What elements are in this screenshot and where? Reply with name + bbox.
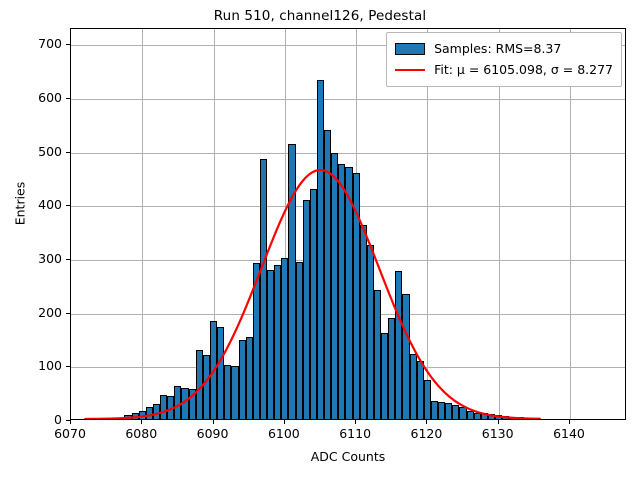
y-tick (66, 366, 70, 367)
histogram-bar (189, 389, 196, 419)
histogram-bar (517, 417, 524, 419)
x-tick-label: 6090 (183, 426, 243, 441)
x-tick-label: 6070 (40, 426, 100, 441)
histogram-bar (153, 404, 160, 419)
histogram-bar (231, 366, 238, 419)
histogram-bar (502, 416, 509, 419)
histogram-bar (431, 401, 438, 419)
x-axis-label: ADC Counts (70, 449, 626, 464)
histogram-bar (296, 262, 303, 419)
histogram-bar (303, 200, 310, 419)
histogram-bar (160, 395, 167, 419)
histogram-bar (410, 354, 417, 420)
legend-patch-swatch-icon (395, 43, 425, 55)
y-tick (66, 44, 70, 45)
x-tick-label: 6120 (396, 426, 456, 441)
gridline-vertical (570, 29, 571, 419)
gridline-horizontal (71, 99, 625, 100)
y-tick-label: 600 (10, 90, 62, 105)
legend-label-fit: Fit: μ = 6105.098, σ = 8.277 (434, 62, 613, 77)
gridline-horizontal (71, 153, 625, 154)
histogram-bar (267, 270, 274, 419)
legend: Samples: RMS=8.37 Fit: μ = 6105.098, σ =… (386, 32, 622, 87)
histogram-bar (124, 415, 131, 419)
histogram-bar (239, 340, 246, 419)
y-tick-label: 700 (10, 36, 62, 51)
y-tick-label: 100 (10, 358, 62, 373)
histogram-bar (402, 294, 409, 419)
y-axis-label: Entries (13, 124, 28, 284)
x-tick (498, 420, 499, 424)
x-tick (355, 420, 356, 424)
histogram-bar (196, 350, 203, 419)
page-title: Run 510, channel126, Pedestal (0, 8, 640, 24)
x-tick-label: 6110 (325, 426, 385, 441)
histogram-bar (481, 413, 488, 419)
histogram-bar (424, 380, 431, 419)
histogram-bar (388, 318, 395, 419)
histogram-bar (459, 407, 466, 419)
y-tick (66, 152, 70, 153)
histogram-bar (174, 386, 181, 419)
x-tick-label: 6100 (254, 426, 314, 441)
y-tick (66, 313, 70, 314)
x-tick-label: 6140 (539, 426, 599, 441)
histogram-bar (181, 388, 188, 419)
gridline-vertical (499, 29, 500, 419)
histogram-bar (203, 355, 210, 419)
histogram-bar (167, 396, 174, 419)
plot-area: Samples: RMS=8.37 Fit: μ = 6105.098, σ =… (70, 28, 626, 420)
legend-line-swatch-icon (395, 69, 425, 71)
histogram-bar (381, 333, 388, 419)
y-tick (66, 420, 70, 421)
y-tick (66, 259, 70, 260)
gridline-vertical (427, 29, 428, 419)
y-tick-label: 200 (10, 305, 62, 320)
histogram-bar (310, 189, 317, 419)
histogram-bar (509, 417, 516, 419)
histogram-bar (474, 413, 481, 419)
legend-item-samples: Samples: RMS=8.37 (395, 38, 613, 59)
histogram-bar (317, 80, 324, 419)
histogram-bar (146, 407, 153, 419)
plot-inner (71, 29, 625, 419)
x-tick (426, 420, 427, 424)
histogram-bar (210, 321, 217, 419)
x-tick-label: 6130 (468, 426, 528, 441)
histogram-bar (360, 225, 367, 419)
histogram-bar (374, 290, 381, 419)
histogram-bar (467, 411, 474, 419)
histogram-bar (452, 405, 459, 419)
y-tick (66, 98, 70, 99)
histogram-bar (495, 415, 502, 419)
histogram-bar (445, 403, 452, 419)
histogram-bar (345, 167, 352, 419)
histogram-bar (524, 418, 531, 419)
legend-item-fit: Fit: μ = 6105.098, σ = 8.277 (395, 59, 613, 80)
histogram-bar (367, 245, 374, 419)
x-tick (569, 420, 570, 424)
histogram-bar (224, 365, 231, 419)
x-tick (213, 420, 214, 424)
x-tick (70, 420, 71, 424)
histogram-bar (395, 271, 402, 419)
histogram-bar (488, 414, 495, 419)
y-tick (66, 205, 70, 206)
histogram-bar (338, 164, 345, 419)
histogram-bar (331, 153, 338, 419)
histogram-bar (260, 159, 267, 419)
y-tick-label: 0 (10, 412, 62, 427)
histogram-bar (281, 258, 288, 419)
histogram-bar (438, 402, 445, 419)
histogram-bar (353, 173, 360, 419)
histogram-bar (246, 337, 253, 419)
x-tick (284, 420, 285, 424)
histogram-bar (324, 130, 331, 419)
legend-label-samples: Samples: RMS=8.37 (434, 41, 561, 56)
histogram-bar (531, 418, 538, 419)
histogram-bar (217, 327, 224, 419)
histogram-bar (253, 263, 260, 419)
histogram-bar (417, 361, 424, 419)
histogram-bar (274, 265, 281, 419)
gridline-vertical (142, 29, 143, 419)
x-tick (141, 420, 142, 424)
histogram-bar (139, 411, 146, 419)
matplotlib-figure: Run 510, channel126, Pedestal Samples: R… (0, 0, 640, 480)
histogram-bar (288, 144, 295, 419)
x-tick-label: 6080 (111, 426, 171, 441)
histogram-bar (132, 413, 139, 419)
